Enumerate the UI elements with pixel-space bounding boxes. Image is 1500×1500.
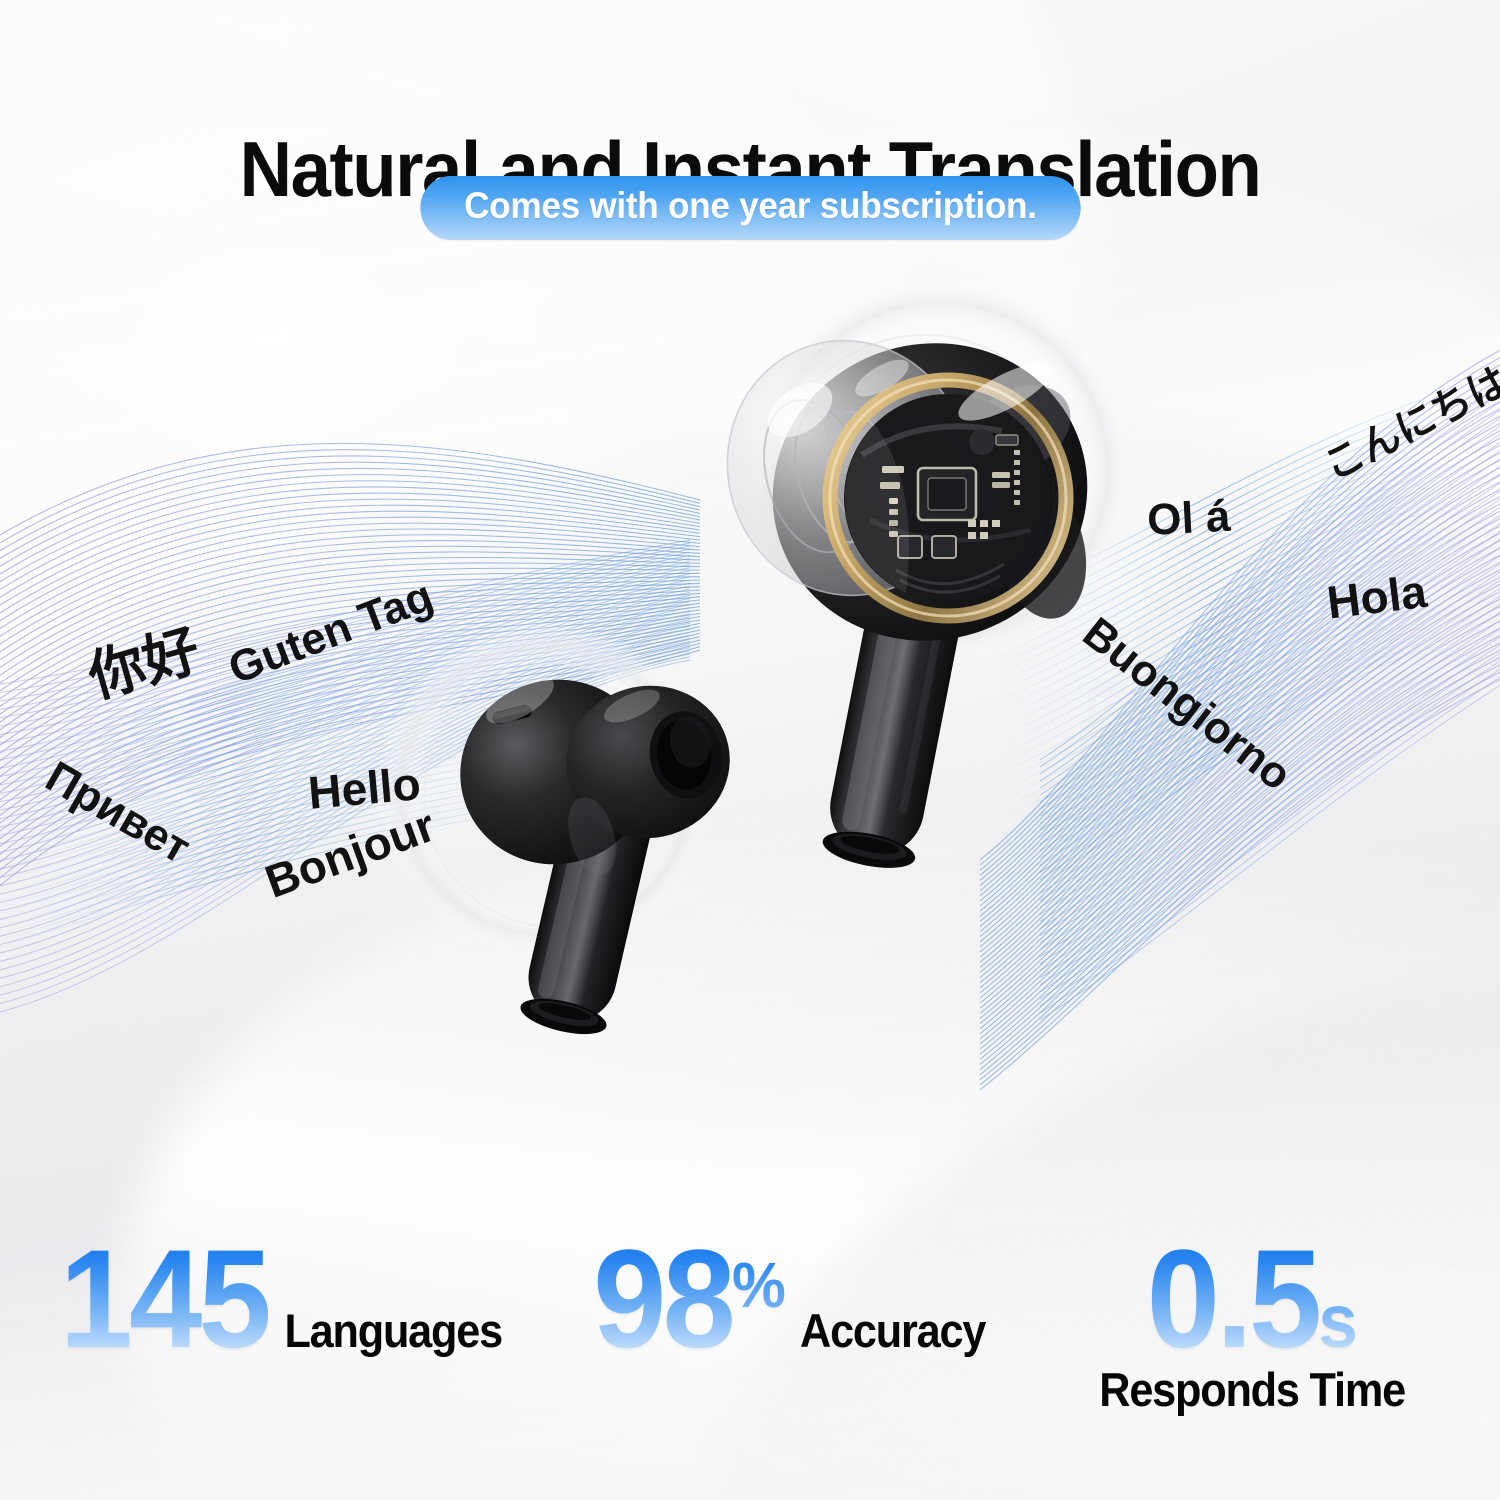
stat-responds-time-unit: s [1319, 1280, 1358, 1364]
stat-responds-time: 0.5sResponds Time [992, 1232, 1500, 1417]
product-feature-image: Natural and Instant Translation Comes wi… [0, 0, 1500, 1500]
language-word-portuguese: Ol á [1146, 492, 1232, 546]
subscription-badge-wrap: Comes with one year subscription. [0, 176, 1500, 240]
stat-accuracy: 98%Accuracy [530, 1232, 1050, 1366]
stat-responds-time-value: 0.5s [1147, 1232, 1357, 1366]
stat-languages-label: Languages [284, 1303, 501, 1358]
stat-responds-time-label: Responds Time [1099, 1362, 1405, 1417]
stat-accuracy-value: 98% [593, 1232, 786, 1366]
stat-accuracy-label: Accuracy [800, 1303, 985, 1358]
stat-languages-value: 145 [60, 1232, 268, 1366]
subscription-badge: Comes with one year subscription. [420, 176, 1080, 240]
stat-languages: 145Languages [22, 1232, 542, 1366]
stat-accuracy-unit: % [732, 1249, 786, 1321]
stats-row: 145Languages98%Accuracy0.5sResponds Time [0, 1232, 1500, 1432]
